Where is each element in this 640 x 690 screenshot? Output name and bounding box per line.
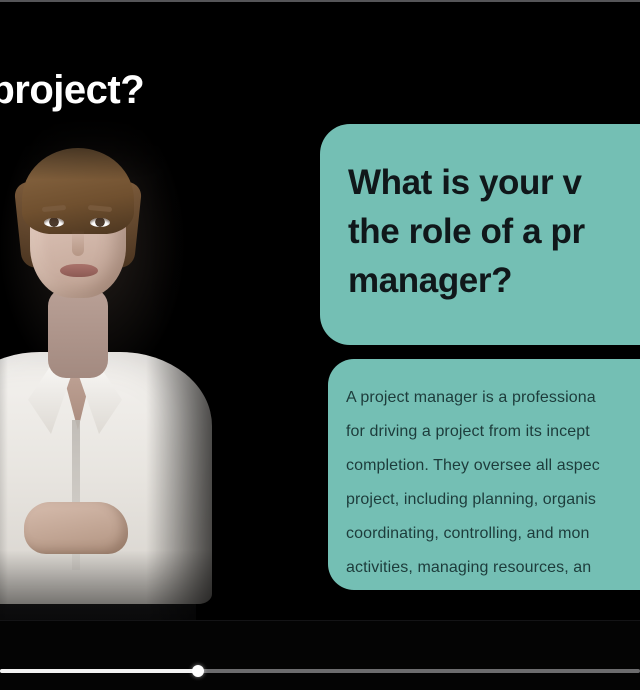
question-text: What is your v the role of a pr manager? [348,158,640,305]
presenter-neck [48,288,108,378]
video-stage[interactable]: a project? What is your v the role of [0,2,640,620]
video-player-screen: a project? What is your v the role of [0,0,640,690]
progress-scrubber-handle[interactable] [192,665,204,677]
presenter-mouth [60,264,98,277]
progress-scrubber-fill [0,669,198,673]
answer-card: A project manager is a professiona for d… [328,359,640,590]
presenter-eye-right [90,218,110,227]
presenter-eye-left [44,218,64,227]
player-control-bar [0,620,640,690]
presenter-avatar [0,120,242,620]
progress-scrubber-track[interactable] [0,669,640,673]
presenter-nose [72,230,84,256]
question-card: What is your v the role of a pr manager? [320,124,640,345]
slide-headline: a project? [0,68,144,112]
answer-text: A project manager is a professiona for d… [346,381,640,585]
presenter-hands [24,502,128,554]
